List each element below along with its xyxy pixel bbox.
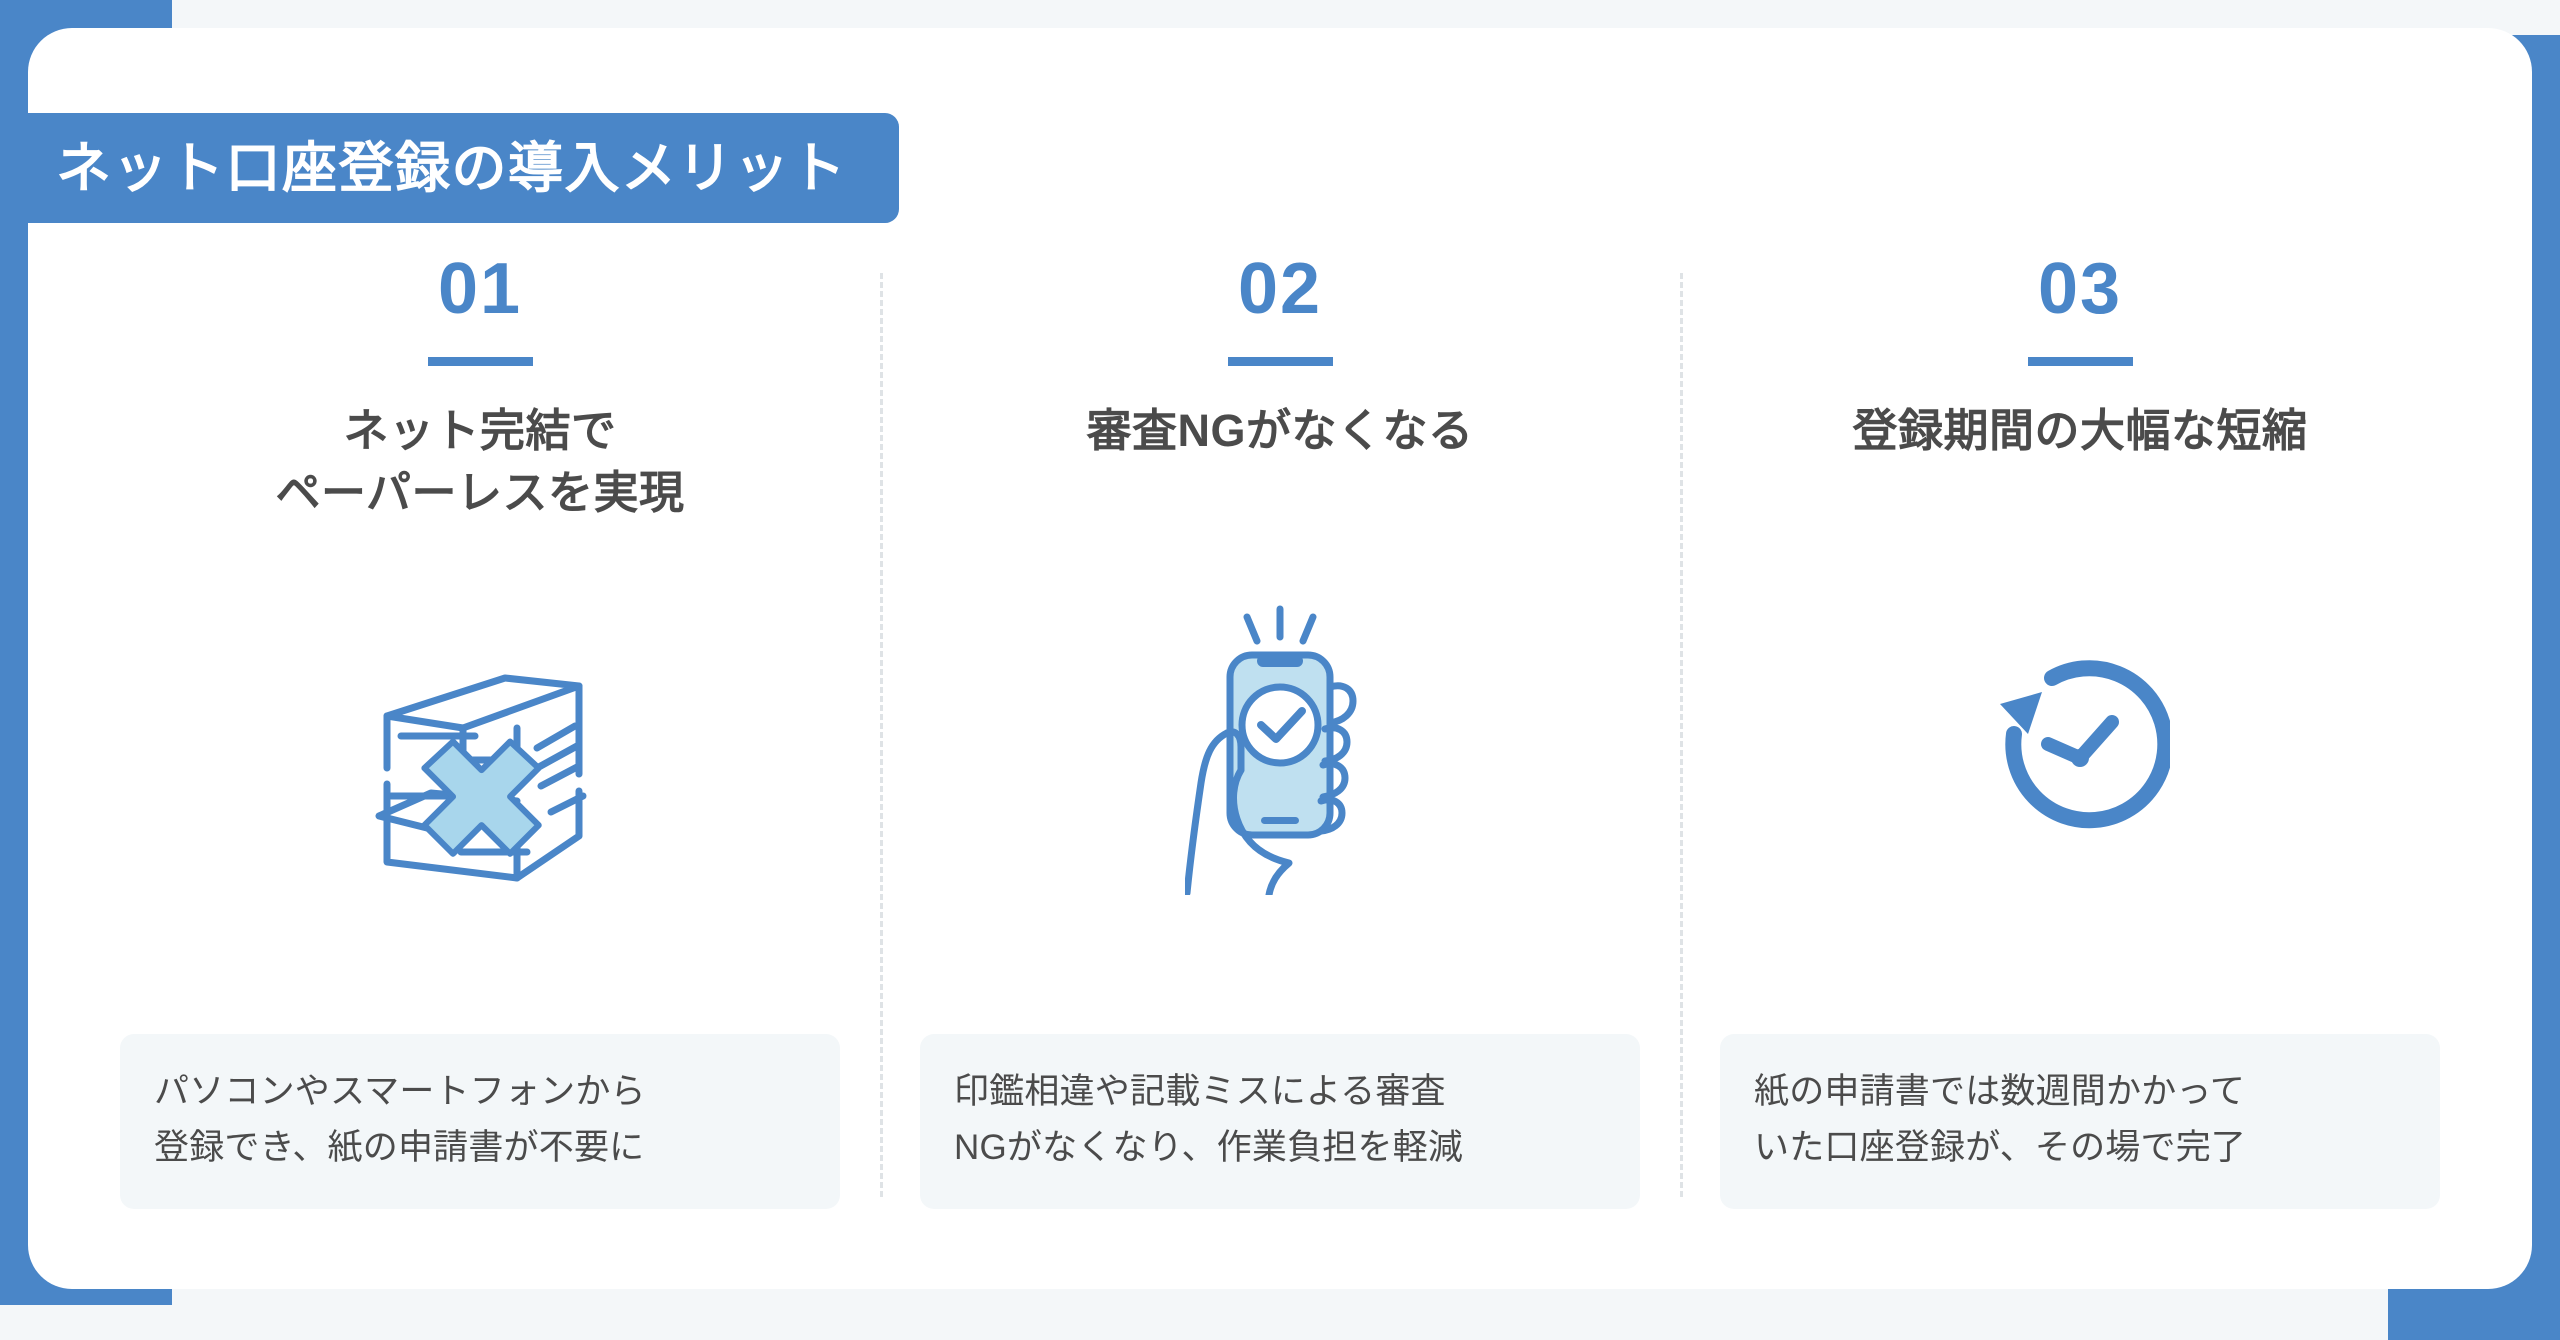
benefit-description-line1-02: 印鑑相違や記載ミスによる審査 <box>954 1064 1606 1121</box>
benefit-heading-line1-02: 審査NGがなくなる <box>1086 400 1473 462</box>
benefits-columns: 01 ネット完結で ペーパーレスを実現 <box>80 253 2480 1213</box>
benefit-icon-wrap-01 <box>120 524 840 1033</box>
check-circle <box>1242 687 1318 763</box>
benefit-icon-wrap-03 <box>1720 462 2440 1034</box>
benefit-description-line2-01: 登録でき、紙の申請書が不要に <box>154 1120 806 1177</box>
benefit-number-underline-02 <box>1228 357 1333 366</box>
benefit-heading-line2-01: ペーパーレスを実現 <box>275 462 684 524</box>
benefit-column-03: 03 登録期間の大幅な短縮 <box>1680 253 2480 1213</box>
benefit-icon-wrap-02 <box>920 462 1640 1034</box>
clock-center <box>2071 749 2089 767</box>
motion-lines <box>1247 609 1313 641</box>
printer-paper-box-x-icon <box>355 656 605 906</box>
benefit-description-line2-02: NGがなくなり、作業負担を軽減 <box>954 1120 1606 1177</box>
clock-arrow-icon <box>1990 660 2170 840</box>
benefit-heading-line1-01: ネット完結で <box>275 400 684 462</box>
benefit-number-03: 03 <box>2038 253 2122 325</box>
phone-home-bar <box>1261 817 1299 824</box>
benefit-heading-03: 登録期間の大幅な短縮 <box>1852 400 2307 462</box>
benefit-heading-01: ネット完結で ペーパーレスを実現 <box>275 400 684 524</box>
title-banner: ネット口座登録の導入メリット <box>0 113 899 223</box>
page-title: ネット口座登録の導入メリット <box>56 141 847 196</box>
benefit-description-line1-01: パソコンやスマートフォンから <box>154 1064 806 1121</box>
arrow-head <box>2000 692 2042 734</box>
benefit-heading-02: 審査NGがなくなる <box>1086 400 1473 462</box>
benefit-description-box-03: 紙の申請書では数週間かかって いた口座登録が、その場で完了 <box>1720 1034 2440 1209</box>
phone-notch <box>1257 655 1303 667</box>
hand-holding-phone-check-icon <box>1185 605 1375 895</box>
benefit-column-02: 02 審査NGがなくなる <box>880 253 1680 1213</box>
benefit-description-line1-03: 紙の申請書では数週間かかって <box>1754 1064 2406 1121</box>
content-card: ネット口座登録の導入メリット 01 ネット完結で ペーパーレスを実現 <box>28 28 2532 1289</box>
benefit-number-01: 01 <box>438 253 522 325</box>
benefit-description-box-02: 印鑑相違や記載ミスによる審査 NGがなくなり、作業負担を軽減 <box>920 1034 1640 1209</box>
benefit-column-01: 01 ネット完結で ペーパーレスを実現 <box>80 253 880 1213</box>
benefit-heading-line1-03: 登録期間の大幅な短縮 <box>1852 400 2307 462</box>
benefit-description-line2-03: いた口座登録が、その場で完了 <box>1754 1120 2406 1177</box>
benefit-number-underline-03 <box>2028 357 2133 366</box>
benefit-number-underline-01 <box>428 357 533 366</box>
benefit-number-02: 02 <box>1238 253 1322 325</box>
benefit-description-box-01: パソコンやスマートフォンから 登録でき、紙の申請書が不要に <box>120 1034 840 1209</box>
